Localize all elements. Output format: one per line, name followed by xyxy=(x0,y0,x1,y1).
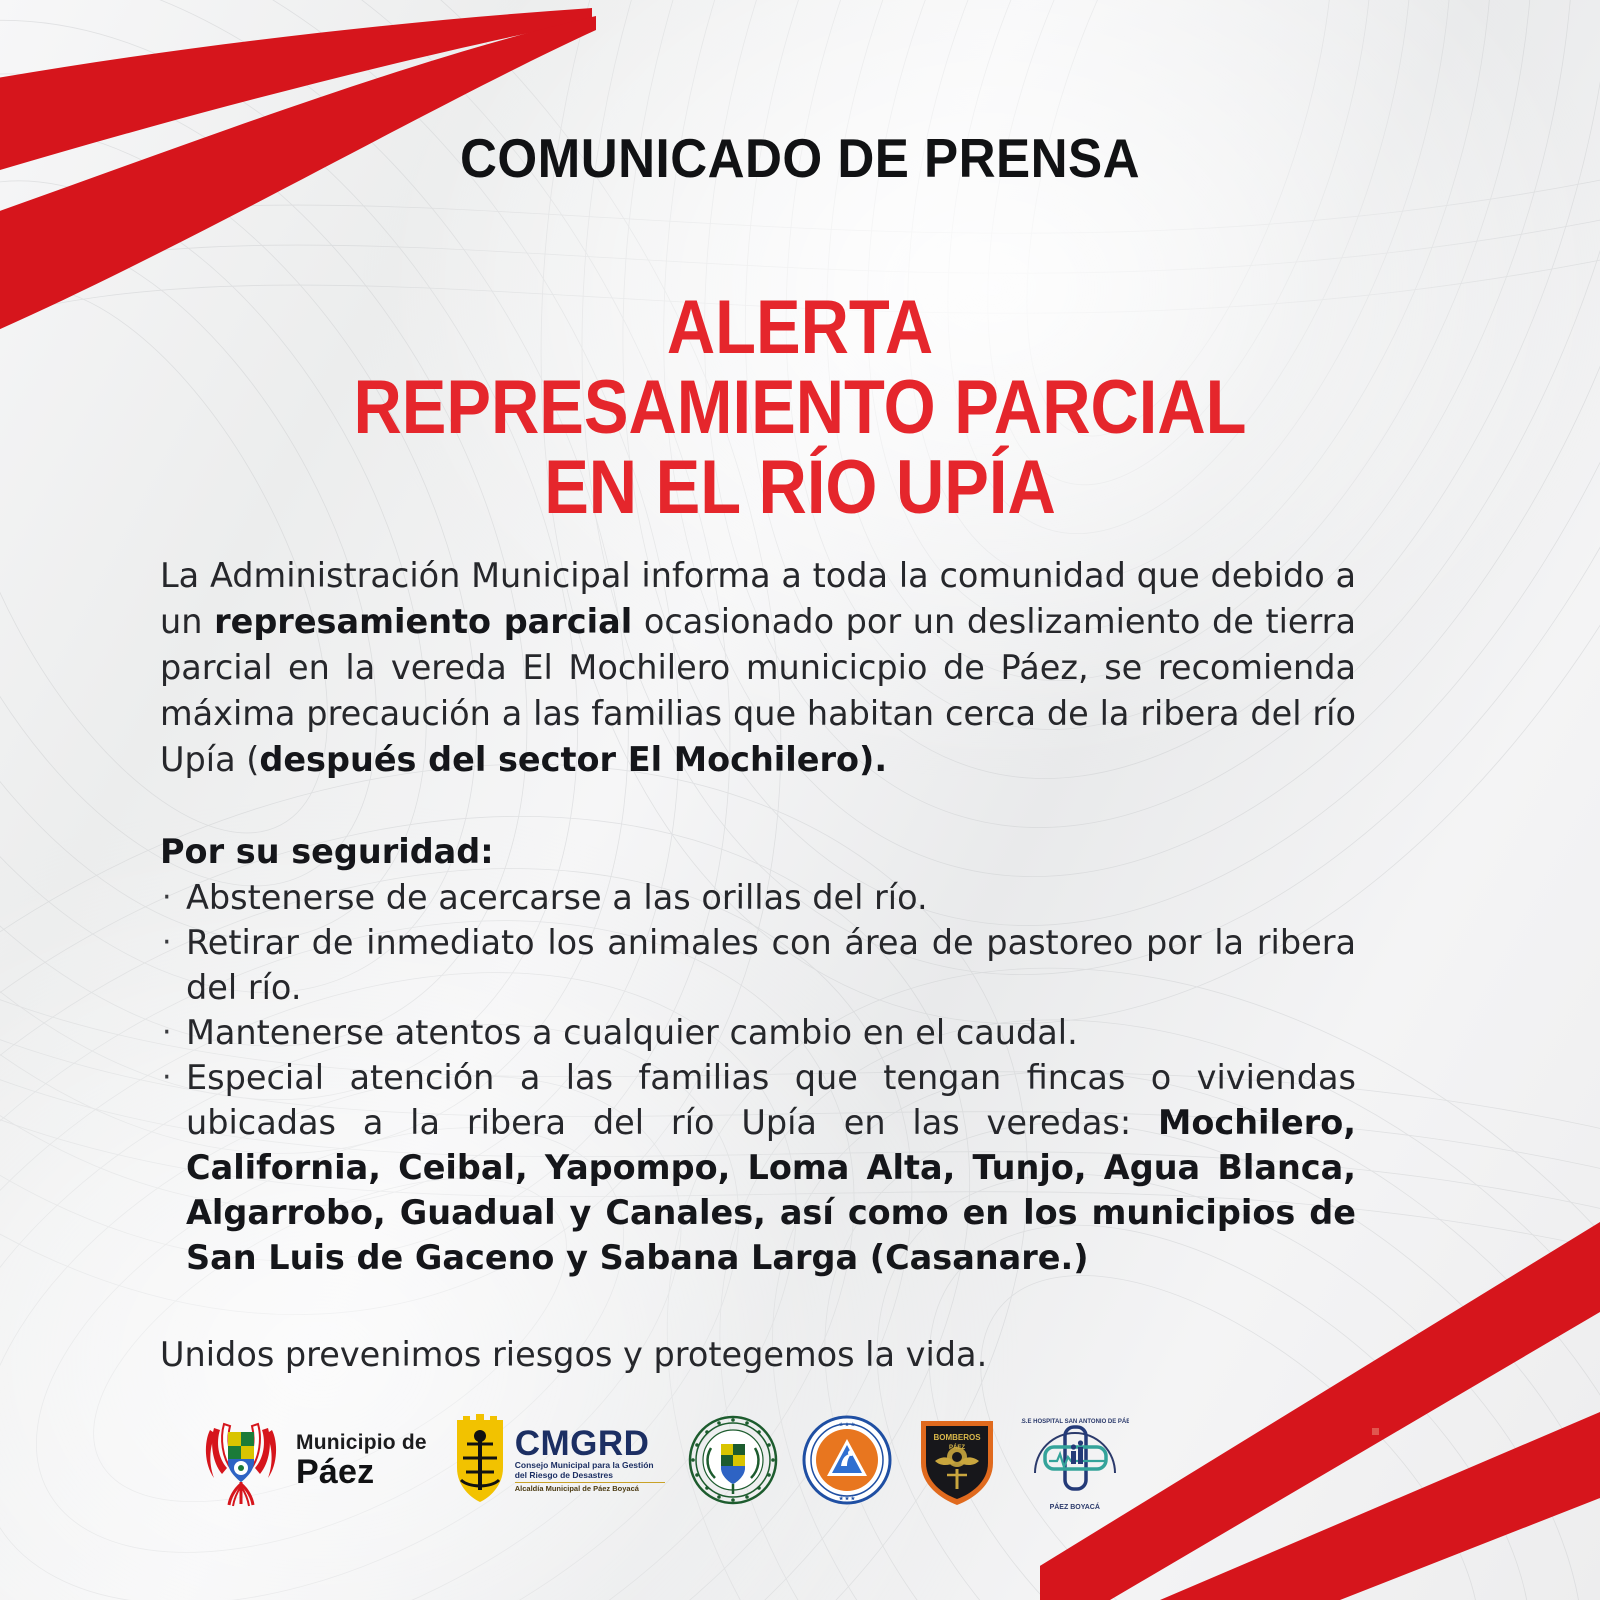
svg-text:E.S.E HOSPITAL SAN ANTONIO DE: E.S.E HOSPITAL SAN ANTONIO DE PÁEZ xyxy=(1021,1418,1129,1425)
safety-bullet-list: ·Abstenerse de acercarse a las orillas d… xyxy=(160,875,1356,1280)
logo-municipio-de-paez: Municipio de Páez xyxy=(200,1412,427,1508)
headline-line-1: ALERTA xyxy=(96,288,1504,368)
bullet-text: Mantenerse atentos a cualquier cambio en… xyxy=(186,1013,1078,1052)
list-item: ·Especial atención a las familias que te… xyxy=(160,1055,1356,1280)
bullet-text: Retirar de inmediato los animales con ár… xyxy=(186,923,1356,1007)
logo-defensa-civil: ★ ★ ★ ★ ★ ★ xyxy=(801,1414,893,1506)
bullet-dot-icon: · xyxy=(162,875,172,920)
paez-label-top: Municipio de xyxy=(296,1432,427,1453)
svg-text:★ ★ ★: ★ ★ ★ xyxy=(839,1422,856,1428)
hospital-caption: PÁEZ BOYACÁ xyxy=(1050,1504,1100,1511)
list-item: ·Retirar de inmediato los animales con á… xyxy=(160,920,1356,1010)
logo-bomberos: BOMBEROS PÁEZ xyxy=(915,1413,999,1507)
page-kicker: COMUNICADO DE PRENSA xyxy=(56,126,1544,190)
intro-paragraph: La Administración Municipal informa a to… xyxy=(160,553,1356,783)
defensa-civil-seal-icon: ★ ★ ★ ★ ★ ★ xyxy=(801,1414,893,1506)
cmgrd-subtitle: Consejo Municipal para la Gestión del Ri… xyxy=(515,1461,665,1480)
closing-statement: Unidos prevenimos riesgos y protegemos l… xyxy=(160,1280,1356,1378)
bullet-dot-icon: · xyxy=(162,1055,172,1100)
cmgrd-footnote: Alcaldía Municipal de Páez Boyacá xyxy=(515,1482,665,1493)
svg-text:★ ★ ★: ★ ★ ★ xyxy=(839,1496,856,1502)
safety-heading: Por su seguridad: xyxy=(160,783,1356,875)
bullet-dot-icon: · xyxy=(162,1010,172,1055)
paez-label-bottom: Páez xyxy=(296,1455,427,1489)
bomberos-shield-icon: BOMBEROS PÁEZ xyxy=(915,1413,999,1507)
intro-bold-1: represamiento parcial xyxy=(214,602,632,641)
list-item: ·Abstenerse de acercarse a las orillas d… xyxy=(160,875,1356,920)
svg-text:BOMBEROS: BOMBEROS xyxy=(933,1433,981,1442)
cmgrd-shield-icon xyxy=(449,1414,511,1506)
policia-nacional-seal-icon xyxy=(687,1414,779,1506)
bullet-dot-icon: · xyxy=(162,920,172,965)
page-title: ALERTA REPRESAMIENTO PARCIAL EN EL RÍO U… xyxy=(0,288,1600,528)
logo-policia-nacional xyxy=(687,1414,779,1506)
footer-logo-strip: Municipio de Páez xyxy=(200,1408,1129,1512)
cmgrd-acronym: CMGRD xyxy=(515,1427,665,1461)
list-item: ·Mantenerse atentos a cualquier cambio e… xyxy=(160,1010,1356,1055)
hospital-cross-icon: E.S.E HOSPITAL SAN ANTONIO DE PÁEZ xyxy=(1021,1409,1129,1503)
logo-cmgrd: CMGRD Consejo Municipal para la Gestión … xyxy=(449,1414,665,1506)
headline-line-3: EN EL RÍO UPÍA xyxy=(96,448,1504,528)
logo-ese-hospital: E.S.E HOSPITAL SAN ANTONIO DE PÁEZ PÁEZ … xyxy=(1021,1409,1129,1511)
intro-bold-2: después del sector El Mochilero). xyxy=(259,740,887,779)
body-content: La Administración Municipal informa a to… xyxy=(160,553,1356,1378)
headline-line-2: REPRESAMIENTO PARCIAL xyxy=(96,368,1504,448)
bullet-text: Abstenerse de acercarse a las orillas de… xyxy=(186,878,928,917)
press-release-poster: COMUNICADO DE PRENSA ALERTA REPRESAMIENT… xyxy=(0,0,1600,1600)
paez-coat-of-arms-icon xyxy=(200,1412,282,1508)
